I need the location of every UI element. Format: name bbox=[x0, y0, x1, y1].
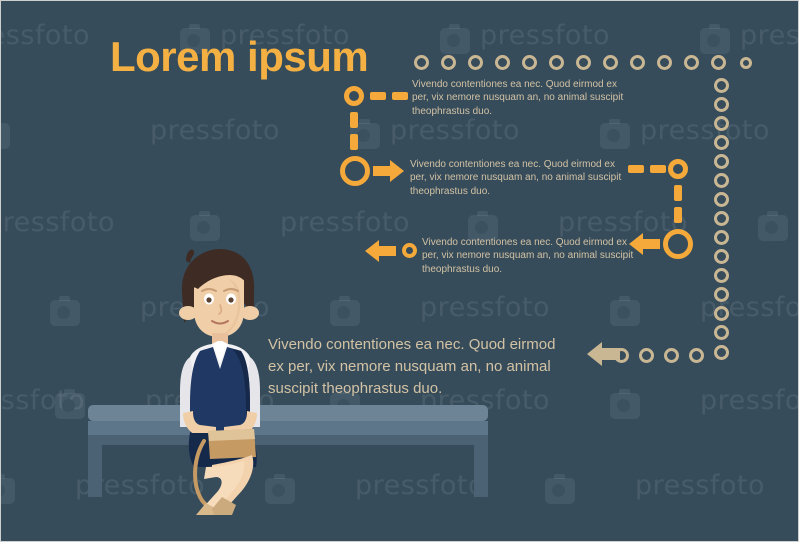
camera-icon bbox=[0, 478, 15, 504]
decor-circle bbox=[714, 230, 729, 245]
flow-dash bbox=[350, 134, 358, 150]
camera-icon bbox=[50, 300, 80, 326]
decor-circle bbox=[714, 173, 729, 188]
arrow-left-beige-icon bbox=[586, 341, 620, 367]
camera-icon bbox=[440, 28, 470, 54]
flow-dash bbox=[370, 92, 386, 100]
decor-circle bbox=[714, 97, 729, 112]
decor-circle bbox=[714, 306, 729, 321]
watermark-text: pressfoto bbox=[635, 470, 765, 501]
decor-circle bbox=[714, 135, 729, 150]
decor-circle bbox=[714, 345, 729, 360]
flow-dash bbox=[350, 112, 358, 128]
flow-dash bbox=[650, 165, 666, 173]
camera-icon bbox=[700, 28, 730, 54]
watermark-text: pressfoto bbox=[640, 115, 770, 146]
camera-icon bbox=[610, 393, 640, 419]
camera-icon bbox=[0, 123, 10, 149]
watermark-text: pressfoto bbox=[0, 385, 85, 416]
decor-circle bbox=[603, 55, 618, 70]
decor-circle bbox=[684, 55, 699, 70]
decor-circle bbox=[711, 55, 726, 70]
decor-circle bbox=[576, 55, 591, 70]
camera-icon bbox=[330, 300, 360, 326]
decor-circle bbox=[714, 116, 729, 131]
camera-icon bbox=[545, 478, 575, 504]
decor-circle bbox=[630, 55, 645, 70]
decor-circle bbox=[714, 268, 729, 283]
watermark-text: pressfoto bbox=[740, 20, 799, 51]
step-3-text: Vivendo contentiones ea nec. Quod eirmod… bbox=[422, 236, 637, 276]
decor-circle bbox=[414, 55, 429, 70]
arrow-right-icon bbox=[373, 159, 405, 183]
step-1-text: Vivendo contentiones ea nec. Quod eirmod… bbox=[412, 78, 627, 118]
decor-circle bbox=[714, 192, 729, 207]
decor-circle bbox=[714, 287, 729, 302]
decor-circle bbox=[495, 55, 510, 70]
flow-dash bbox=[674, 185, 682, 201]
decor-circle bbox=[689, 348, 704, 363]
decor-circle bbox=[664, 348, 679, 363]
flow-dash bbox=[392, 92, 408, 100]
flow-node-ring-small bbox=[668, 159, 688, 179]
flow-dash bbox=[674, 207, 682, 223]
flow-dash bbox=[628, 165, 644, 173]
step-2-text: Vivendo contentiones ea nec. Quod eirmod… bbox=[410, 158, 625, 198]
flow-node-ring-large bbox=[340, 156, 370, 186]
flow-node-ring-large bbox=[663, 229, 693, 259]
watermark-text: pressfoto bbox=[0, 207, 115, 238]
decor-circle bbox=[441, 55, 456, 70]
decor-circle bbox=[639, 348, 654, 363]
flow-node-ring-small bbox=[402, 243, 417, 258]
watermark-text: pressfoto bbox=[150, 115, 280, 146]
decor-circle bbox=[740, 57, 752, 69]
decor-circle bbox=[468, 55, 483, 70]
infographic-canvas: pressfoto pressfoto pressfoto pressfoto … bbox=[0, 0, 799, 542]
camera-icon bbox=[190, 215, 220, 241]
decor-circle bbox=[549, 55, 564, 70]
watermark-text: pressfoto bbox=[280, 207, 410, 238]
watermark-text: pressfoto bbox=[700, 385, 799, 416]
arrow-left-icon bbox=[364, 239, 396, 263]
decor-circle bbox=[714, 211, 729, 226]
page-title: Lorem ipsum bbox=[110, 33, 368, 81]
watermark-text: pressfoto bbox=[480, 20, 610, 51]
decor-circle bbox=[714, 325, 729, 340]
step-4-text: Vivendo contentiones ea nec. Quod eirmod… bbox=[268, 334, 573, 399]
camera-icon bbox=[758, 215, 788, 241]
camera-icon bbox=[610, 300, 640, 326]
decor-circle bbox=[714, 249, 729, 264]
decor-circle bbox=[714, 78, 729, 93]
watermark-text: pressfoto bbox=[0, 20, 90, 51]
decor-circle bbox=[522, 55, 537, 70]
watermark-text: pressfoto bbox=[420, 292, 550, 323]
decor-circle bbox=[657, 55, 672, 70]
watermark-text: pressfoto bbox=[390, 115, 520, 146]
decor-circle bbox=[714, 154, 729, 169]
flow-node-ring-small bbox=[344, 86, 364, 106]
camera-icon bbox=[600, 123, 630, 149]
camera-icon bbox=[55, 393, 85, 419]
